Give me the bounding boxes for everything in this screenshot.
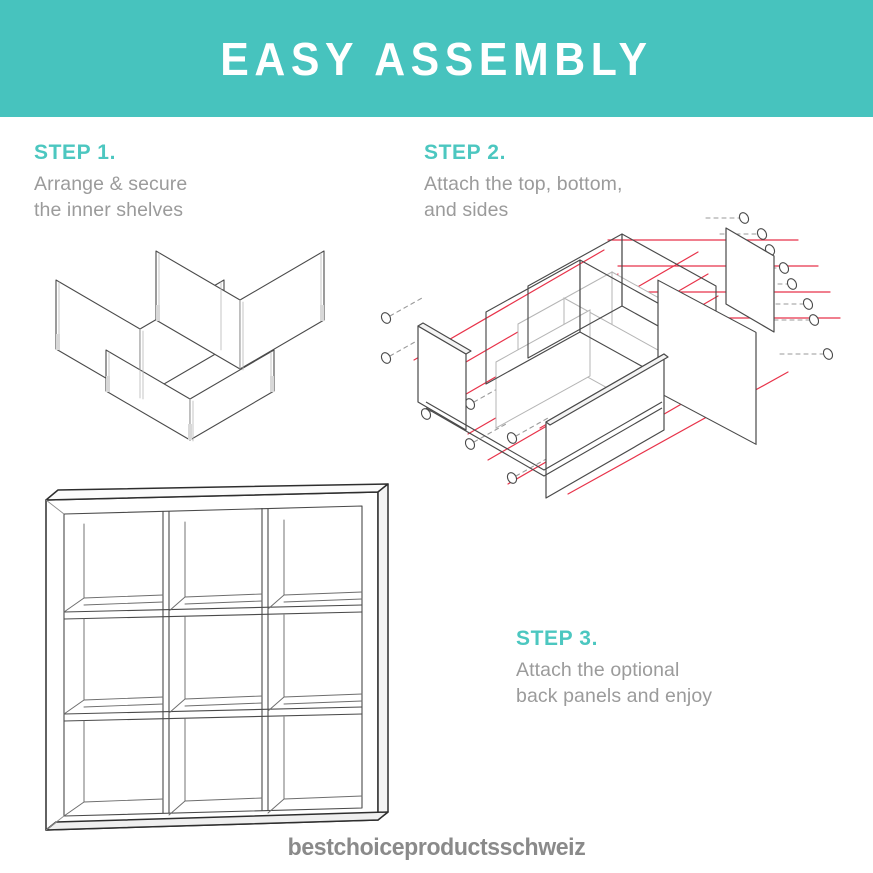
step-1-diagram-interlocking-shelves [40, 238, 340, 453]
step-1-body: Arrange & secure the inner shelves [34, 172, 334, 224]
step-3-diagram-finished-bookshelf [22, 478, 422, 843]
step-2-diagram-exploded-panels [368, 212, 864, 532]
step-3-body: Attach the optional back panels and enjo… [516, 658, 846, 710]
header-banner: EASY ASSEMBLY [0, 0, 873, 117]
step-1-heading: STEP 1. [34, 142, 334, 163]
page-title: EASY ASSEMBLY [220, 36, 652, 82]
step-2-heading: STEP 2. [424, 142, 754, 163]
infographic-page: EASY ASSEMBLY STEP 1. Arrange & secure t… [0, 0, 873, 873]
step-1-text-block: STEP 1. Arrange & secure the inner shelv… [34, 142, 334, 224]
step-3-text-block: STEP 3. Attach the optional back panels … [516, 628, 846, 710]
step-3-heading: STEP 3. [516, 628, 846, 649]
watermark-text: bestchoiceproductsschweiz [17, 834, 855, 862]
